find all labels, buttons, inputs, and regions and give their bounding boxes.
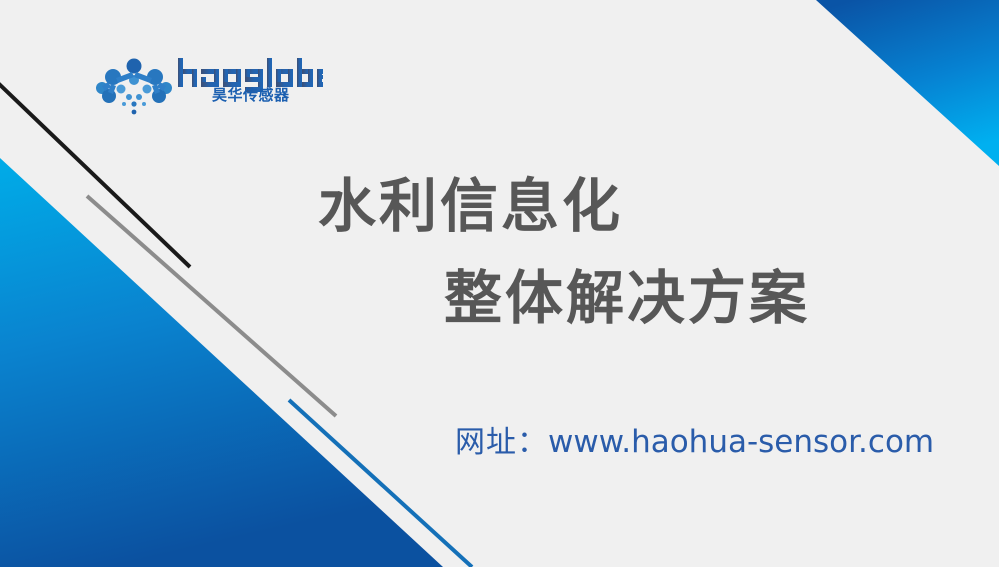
title-slide: 昊华传感器 水利信息化 整体解决方案 网址：www.haohua-sensor.… <box>0 0 999 567</box>
website-label: 网址： <box>455 425 548 460</box>
top-right-blue-gradient-triangle <box>816 0 999 166</box>
haoglobe-network-dots-logo-icon <box>96 58 172 116</box>
page-title-line-2: 整体解决方案 <box>0 252 999 344</box>
website-line: 网址：www.haohua-sensor.com <box>455 420 934 470</box>
page-title-line-1: 水利信息化 <box>0 160 999 252</box>
company-logo: 昊华传感器 <box>96 56 326 120</box>
website-url[interactable]: www.haohua-sensor.com <box>548 424 934 460</box>
logo-text: 昊华传感器 <box>176 56 326 116</box>
page-title: 水利信息化 整体解决方案 <box>0 160 999 344</box>
logo-subtitle: 昊华传感器 <box>212 88 290 103</box>
